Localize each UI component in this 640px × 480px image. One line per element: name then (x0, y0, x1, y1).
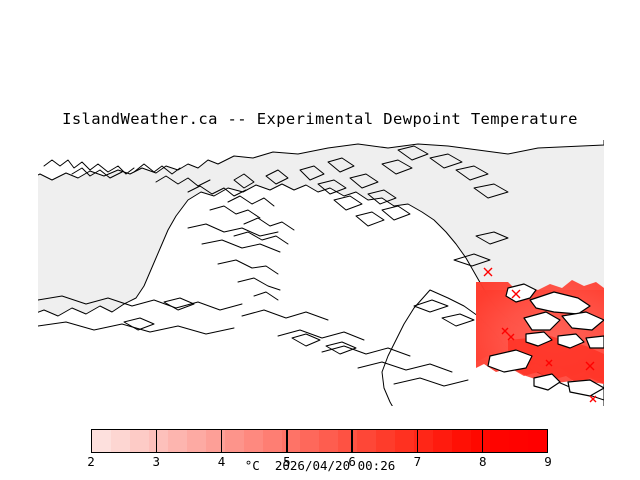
colorbar-step-3 (149, 430, 168, 452)
colorbar-step-12 (319, 430, 338, 452)
colorbar-step-0 (92, 430, 111, 452)
colorbar-step-13 (338, 430, 357, 452)
colorbar-step-1 (111, 430, 130, 452)
colorbar-step-21 (490, 430, 509, 452)
map-canvas[interactable] (38, 140, 604, 406)
colorbar-step-16 (395, 430, 414, 452)
colorbar-step-9 (263, 430, 282, 452)
colorbar-step-22 (509, 430, 528, 452)
island-small-c (586, 336, 604, 348)
colorbar-step-11 (300, 430, 319, 452)
page-title: IslandWeather.ca -- Experimental Dewpoin… (0, 110, 640, 128)
colorbar-step-23 (528, 430, 547, 452)
coastline-map (38, 140, 604, 406)
colorbar-gradient (91, 429, 548, 453)
colorbar-caption: °C 2026/04/20 00:26 (0, 458, 640, 473)
colorbar-step-19 (452, 430, 471, 452)
colorbar-step-20 (471, 430, 490, 452)
colorbar-step-18 (433, 430, 452, 452)
colorbar-step-5 (187, 430, 206, 452)
weather-map-page: IslandWeather.ca -- Experimental Dewpoin… (0, 0, 640, 480)
colorbar-step-4 (168, 430, 187, 452)
colorbar-step-6 (206, 430, 225, 452)
colorbar-step-8 (244, 430, 263, 452)
colorbar-step-10 (282, 430, 301, 452)
colorbar: 23456789 (91, 429, 548, 453)
colorbar-step-15 (376, 430, 395, 452)
colorbar-step-7 (225, 430, 244, 452)
colorbar-step-14 (357, 430, 376, 452)
colorbar-step-17 (414, 430, 433, 452)
colorbar-step-2 (130, 430, 149, 452)
